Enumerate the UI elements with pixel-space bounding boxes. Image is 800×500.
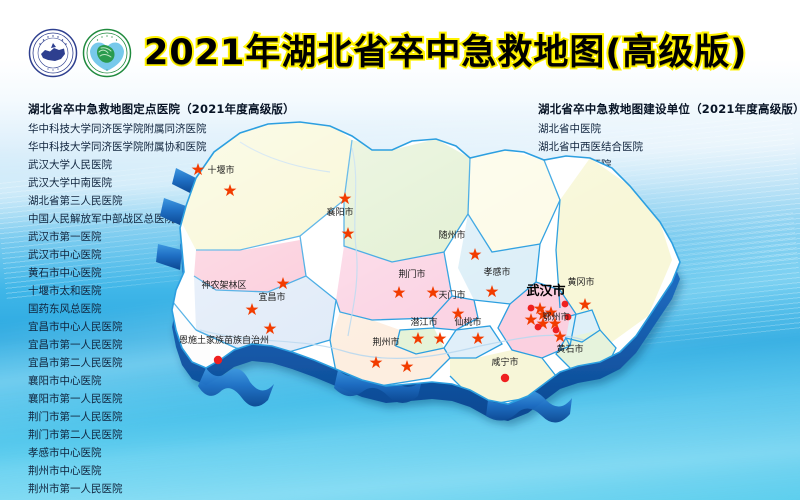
hubei-province-map: 十堰市 神农架林区 襄阳市 随州市 宜昌市 荆门市 孝感市 黄冈市 天门市 潜江… <box>150 105 790 445</box>
region-label: 荆门市 <box>398 268 425 280</box>
region-label: 黄冈市 <box>567 276 594 288</box>
region-label: 咸宁市 <box>491 356 518 368</box>
region-label: 宜昌市 <box>258 291 285 303</box>
region-label: 黄石市 <box>556 343 583 355</box>
dot-marker <box>553 327 560 334</box>
dot-marker <box>562 301 569 308</box>
dot-marker <box>535 324 542 331</box>
dot-marker <box>501 374 509 382</box>
page-title: 2021年湖北省卒中急救地图(高级版) <box>144 36 747 71</box>
region-label: 十堰市 <box>207 164 234 176</box>
region-label: 天门市 <box>438 289 465 301</box>
region-label: 恩施土家族苗族自治州 <box>179 334 269 346</box>
region-label: 鄂州市 <box>542 311 569 323</box>
region-label: 随州市 <box>438 229 465 241</box>
region-label: 潜江市 <box>410 316 437 328</box>
hubei-health-commission-seal-icon <box>28 28 78 78</box>
poster-root: 2021年湖北省卒中急救地图(高级版) 湖北省卒中急救地图定点医院（2021年度… <box>0 0 800 500</box>
list-item: 孝感市中心医院 <box>28 444 295 462</box>
list-item: 荆州市第一人民医院 <box>28 480 295 498</box>
stroke-center-seal-icon <box>82 28 132 78</box>
list-item: 荆州市中心医院 <box>28 462 295 480</box>
region-label-wuhan: 武汉市 <box>526 283 565 299</box>
region-label: 襄阳市 <box>326 206 353 218</box>
region-label: 荆州市 <box>372 336 399 348</box>
region-label: 神农架林区 <box>201 279 246 291</box>
region-label: 仙桃市 <box>454 316 481 328</box>
region-label: 孝感市 <box>483 266 510 278</box>
dot-marker <box>214 356 222 364</box>
dot-marker <box>528 305 535 312</box>
poster-header: 2021年湖北省卒中急救地图(高级版) <box>0 22 800 84</box>
